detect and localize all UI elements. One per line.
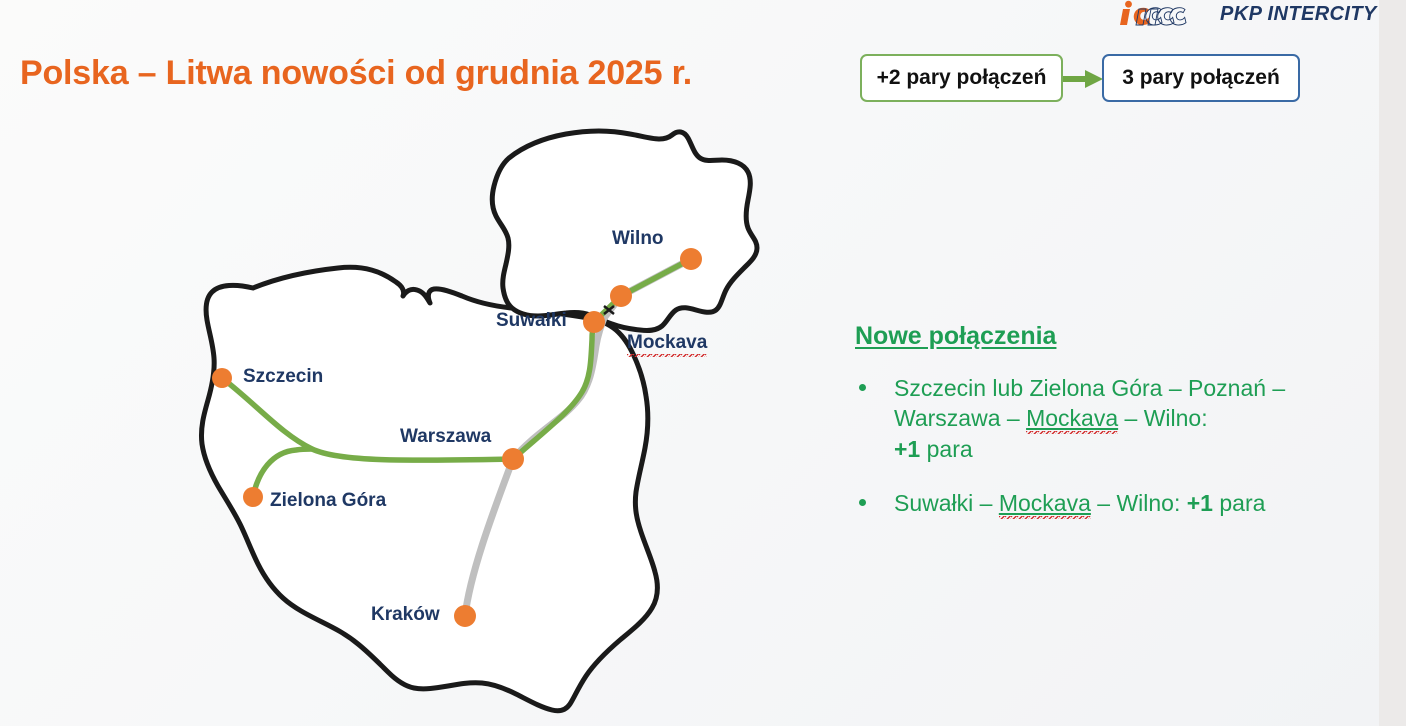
city-label-wilno: Wilno [612, 228, 664, 250]
city-dot-szczecin [212, 368, 232, 388]
panel-heading: Nowe połączenia [855, 322, 1355, 351]
city-dot-warszawa [502, 448, 524, 470]
bullet-text-2: Suwałki – Mockava – Wilno: +1 para [894, 488, 1355, 518]
slide-outside-area [1379, 0, 1406, 726]
city-dot-mockava [610, 285, 632, 307]
city-label-krakow: Kraków [371, 604, 440, 626]
city-dot-krakow [454, 605, 476, 627]
city-dot-suwalki [583, 311, 605, 333]
spell-error-mockava: Mockava [1026, 405, 1118, 434]
new-connections-panel: Nowe połączenia Szczecin lub Zielona Gór… [855, 322, 1355, 518]
city-label-warszawa: Warszawa [400, 426, 491, 448]
list-item: Szczecin lub Zielona Góra – Poznań – War… [855, 373, 1355, 464]
spell-error-mockava: Mockava [999, 490, 1091, 519]
bullet-text-1: Szczecin lub Zielona Góra – Poznań – War… [894, 373, 1355, 464]
city-label-mockava: Mockava [627, 332, 707, 357]
city-dot-zielona-gora [243, 487, 263, 507]
list-item: Suwałki – Mockava – Wilno: +1 para [855, 488, 1355, 518]
city-dot-wilno [680, 248, 702, 270]
bullet-icon [859, 499, 866, 506]
slide-canvas: PKP INTERCITY Polska – Litwa nowości od … [0, 0, 1379, 726]
bullet-icon [859, 384, 866, 391]
city-label-zielona-gora: Zielona Góra [270, 490, 386, 512]
city-label-suwalki: Suwałki [496, 310, 567, 332]
city-label-szczecin: Szczecin [243, 366, 323, 388]
